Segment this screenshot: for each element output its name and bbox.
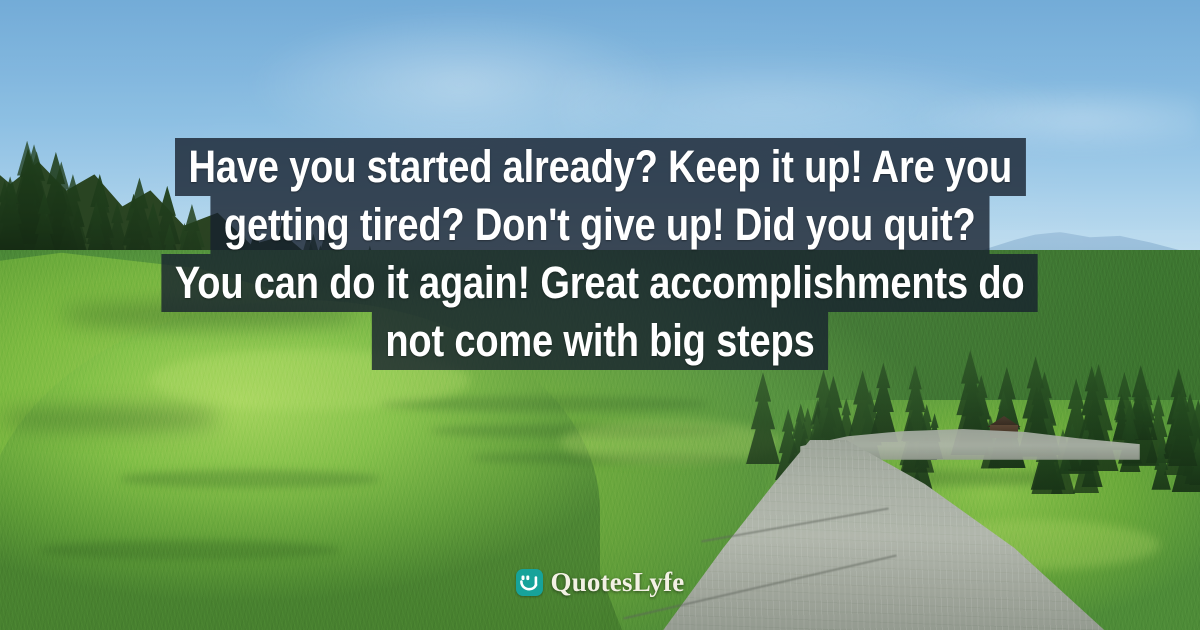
quote-line-row: getting tired? Don't give up! Did you qu…: [0, 196, 1200, 254]
quote-line-row: You can do it again! Great accomplishmen…: [0, 254, 1200, 312]
quote-line-2: getting tired? Don't give up! Did you qu…: [211, 196, 990, 254]
quote-card: Have you started already? Keep it up! Ar…: [0, 0, 1200, 630]
brand-logo[interactable]: QuotesLyfe: [0, 569, 1200, 596]
quote-line-4: not come with big steps: [372, 312, 828, 370]
quote-line-row: not come with big steps: [0, 312, 1200, 370]
brand-name: QuotesLyfe: [551, 569, 685, 596]
smiley-speech-bubble-icon: [516, 569, 543, 596]
conifer-tree-icon: [743, 372, 784, 464]
quote-line-row: Have you started already? Keep it up! Ar…: [0, 138, 1200, 196]
quote-line-1: Have you started already? Keep it up! Ar…: [175, 138, 1026, 196]
quote-block: Have you started already? Keep it up! Ar…: [0, 138, 1200, 370]
quote-line-3: You can do it again! Great accomplishmen…: [162, 254, 1039, 312]
